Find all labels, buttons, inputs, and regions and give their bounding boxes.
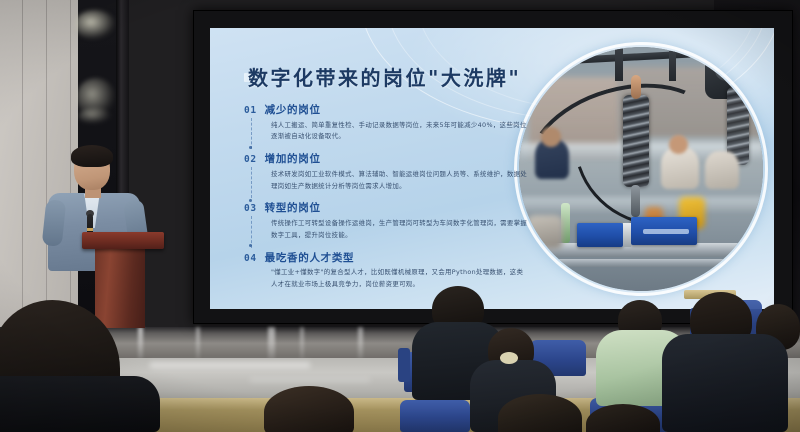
hair-tie xyxy=(500,352,518,364)
foreground-head xyxy=(498,394,582,432)
chair-armrest xyxy=(398,348,410,382)
lecture-hall-scene: 数字化带来的岗位"大洗牌" 01 减少的岗位 纯人工搬运、简单重复性检、手动记录… xyxy=(0,0,800,432)
foreground-body xyxy=(0,376,160,432)
foreground-head xyxy=(264,386,354,432)
classroom-chair[interactable] xyxy=(400,400,470,432)
student-body xyxy=(662,334,788,432)
audience xyxy=(0,0,800,432)
